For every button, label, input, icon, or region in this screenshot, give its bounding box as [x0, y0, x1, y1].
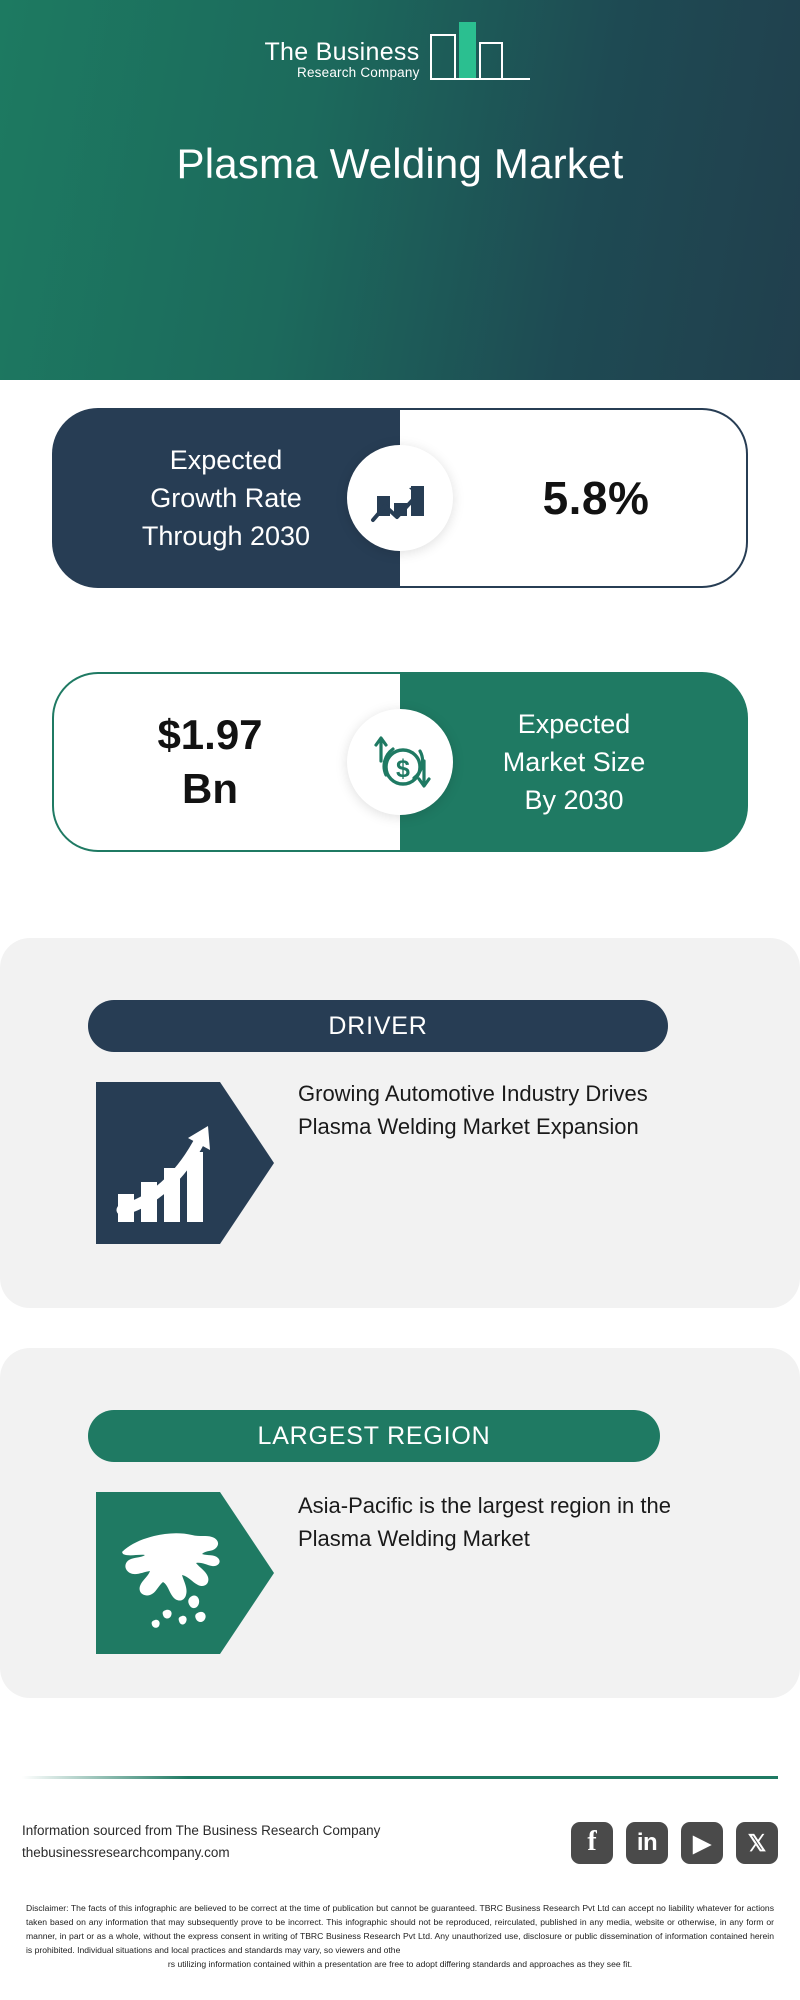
svg-text:$: $ [396, 755, 410, 783]
footer-source-line-1: Information sourced from The Business Re… [22, 1820, 462, 1842]
logo-baseline [430, 78, 530, 81]
footer-source: Information sourced from The Business Re… [22, 1820, 462, 1865]
logo-text: The Business Research Company [264, 39, 419, 88]
market-size-label: Expected Market Size By 2030 [503, 705, 646, 820]
logo-bar-1 [430, 34, 456, 78]
stat-card-growth-rate: Expected Growth Rate Through 2030 5.8% [52, 408, 748, 588]
x-twitter-icon[interactable]: 𝕏 [736, 1822, 778, 1864]
market-label-line-3: By 2030 [524, 785, 623, 815]
driver-description: Growing Automotive Industry Drives Plasm… [298, 1078, 718, 1143]
growth-bar-chart-arrow-icon [347, 445, 453, 551]
growth-label-line-1: Expected [170, 445, 283, 475]
largest-region-pill-label: LARGEST REGION [88, 1410, 660, 1462]
dollar-circular-arrows-icon: $ [347, 709, 453, 815]
logo-bar-2 [459, 22, 476, 78]
market-label-line-2: Market Size [503, 747, 646, 777]
youtube-icon[interactable]: ▶ [681, 1822, 723, 1864]
disclaimer-text: Disclaimer: The facts of this infographi… [26, 1902, 774, 1972]
growth-label-line-2: Growth Rate [150, 483, 302, 513]
driver-pill-label: DRIVER [88, 1000, 668, 1052]
linkedin-icon[interactable]: in [626, 1822, 668, 1864]
upward-trend-bar-chart-icon [96, 1082, 274, 1244]
company-logo: The Business Research Company [0, 22, 800, 88]
market-label-line-1: Expected [518, 709, 631, 739]
infographic-page: The Business Research Company Plasma Wel… [0, 0, 800, 2000]
market-size-value: $1.97 Bn [157, 708, 296, 816]
logo-secondary-text: Research Company [297, 65, 420, 82]
asia-map-icon [96, 1492, 274, 1654]
stat-card-market-size: $1.97 Bn Expected Market Size By 2030 $ [52, 672, 748, 852]
market-size-value-line-1: $1.97 [157, 711, 262, 758]
market-size-value-line-2: Bn [182, 765, 238, 812]
footer-divider [22, 1776, 778, 1779]
social-links: f in ▶ 𝕏 [571, 1822, 778, 1864]
growth-rate-label: Expected Growth Rate Through 2030 [142, 441, 310, 556]
disclaimer-main: Disclaimer: The facts of this infographi… [26, 1903, 774, 1955]
logo-bar-3 [479, 42, 503, 78]
header-banner: The Business Research Company Plasma Wel… [0, 0, 800, 380]
page-title: Plasma Welding Market [0, 140, 800, 188]
disclaimer-last-line: rs utilizing information contained withi… [26, 1958, 774, 1972]
growth-label-line-3: Through 2030 [142, 521, 310, 551]
logo-primary-text: The Business [264, 39, 419, 65]
largest-region-description: Asia-Pacific is the largest region in th… [298, 1490, 718, 1555]
facebook-icon[interactable]: f [571, 1822, 613, 1864]
footer-website-link[interactable]: thebusinessresearchcompany.com [22, 1842, 462, 1864]
growth-rate-value: 5.8% [497, 471, 650, 525]
bar-chart-logo-icon [426, 22, 536, 88]
